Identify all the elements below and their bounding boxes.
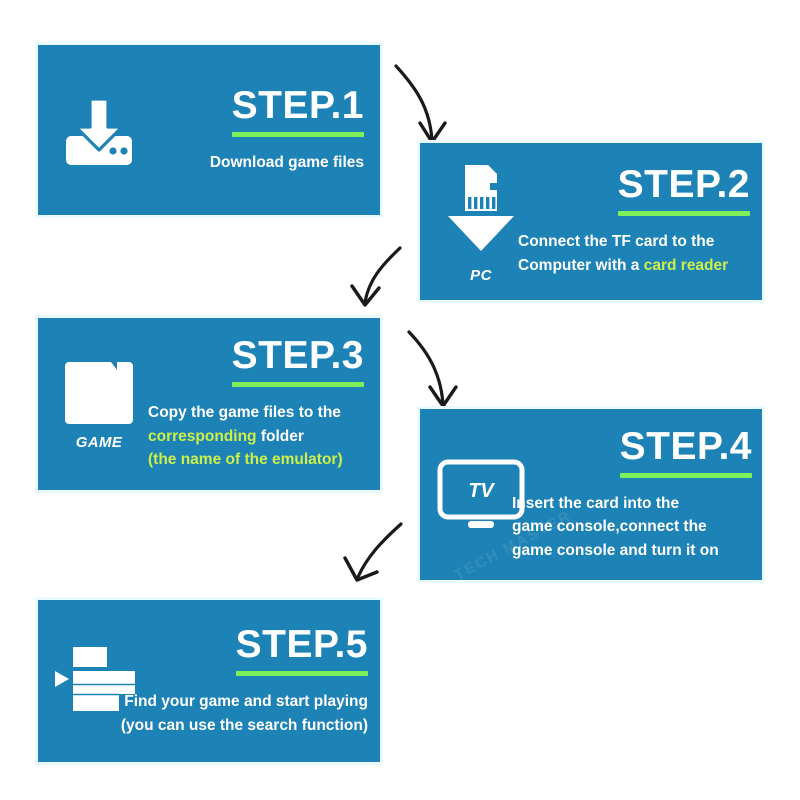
step-card-3[interactable]: GAME STEP.3 Copy the game files to the c…: [38, 318, 380, 490]
step-5-title: STEP.5: [236, 625, 368, 664]
step-5-line-2-text: (you can use the search function): [121, 717, 368, 734]
step-2-line-2-text: Computer with a: [518, 257, 644, 274]
step-3-line-3-highlight: (the name of the emulator): [148, 451, 343, 468]
step-2-text-area: STEP.2 Connect the TF card to the Comput…: [518, 143, 750, 300]
download-icon: [62, 93, 136, 167]
step-3-line-1-text: Copy the game files to the: [148, 404, 341, 421]
step-4-title: STEP.4: [620, 427, 752, 466]
step-3-title: STEP.3: [232, 336, 364, 375]
step-card-4[interactable]: TECH MASTER TV STEP.4 Insert the: [420, 409, 762, 580]
step-1-text-area: STEP.1 Download game files: [210, 45, 364, 215]
step-5-text-area: STEP.5 Find your game and start playing …: [100, 600, 368, 762]
tv-icon-label: TV: [468, 480, 495, 502]
step-5-title-underline: [236, 671, 368, 676]
step-1-title: STEP.1: [232, 86, 364, 125]
step-1-description: Download game files: [210, 151, 364, 175]
step-3-description: Copy the game files to the corresponding…: [148, 401, 343, 472]
step-5-line-1-text: Find your game and start playing: [124, 693, 368, 710]
arrow-step1-to-step2: [396, 66, 445, 142]
arrow-step4-to-step5: [345, 524, 401, 580]
step-3-text-area: STEP.3 Copy the game files to the corres…: [148, 318, 364, 490]
step-2-icon-caption: PC: [470, 267, 492, 284]
step-3-icon-area: GAME: [38, 318, 160, 490]
step-3-title-underline: [232, 382, 364, 387]
step-3-icon-caption: GAME: [76, 434, 123, 451]
step-5-description: Find your game and start playing (you ca…: [121, 690, 368, 737]
step-2-line-1-text: Connect the TF card to the: [518, 233, 714, 250]
arrow-step3-to-step4: [409, 332, 456, 406]
step-card-2[interactable]: PC STEP.2 Connect the TF card to the Com…: [420, 143, 762, 300]
step-4-title-underline: [620, 473, 752, 478]
folder-icon: [59, 358, 139, 430]
step-2-title-underline: [618, 211, 750, 216]
step-1-line-1-text: Download game files: [210, 154, 364, 171]
step-1-icon-area: [38, 45, 160, 215]
infographic-canvas: STEP.1 Download game files: [0, 0, 800, 800]
step-4-text-area: STEP.4 Insert the card into the game con…: [512, 409, 752, 580]
step-2-title: STEP.2: [618, 165, 750, 204]
step-2-line-2-highlight: card reader: [644, 257, 728, 274]
step-3-line-2-highlight: corresponding: [148, 428, 257, 445]
step-4-line-3-text: game console and turn it on: [512, 542, 719, 559]
step-2-description: Connect the TF card to the Computer with…: [518, 230, 728, 277]
step-card-5[interactable]: STEP.5 Find your game and start playing …: [38, 600, 380, 762]
tf-card-insert-icon: [435, 159, 527, 263]
step-3-line-2-text: folder: [257, 428, 304, 445]
step-4-description: Insert the card into the game console,co…: [512, 492, 719, 563]
arrow-step2-to-step3: [352, 248, 400, 305]
step-4-line-2-text: game console,connect the: [512, 518, 707, 535]
step-4-line-1-text: Insert the card into the: [512, 495, 679, 512]
step-card-1[interactable]: STEP.1 Download game files: [38, 45, 380, 215]
step-1-title-underline: [232, 132, 364, 137]
